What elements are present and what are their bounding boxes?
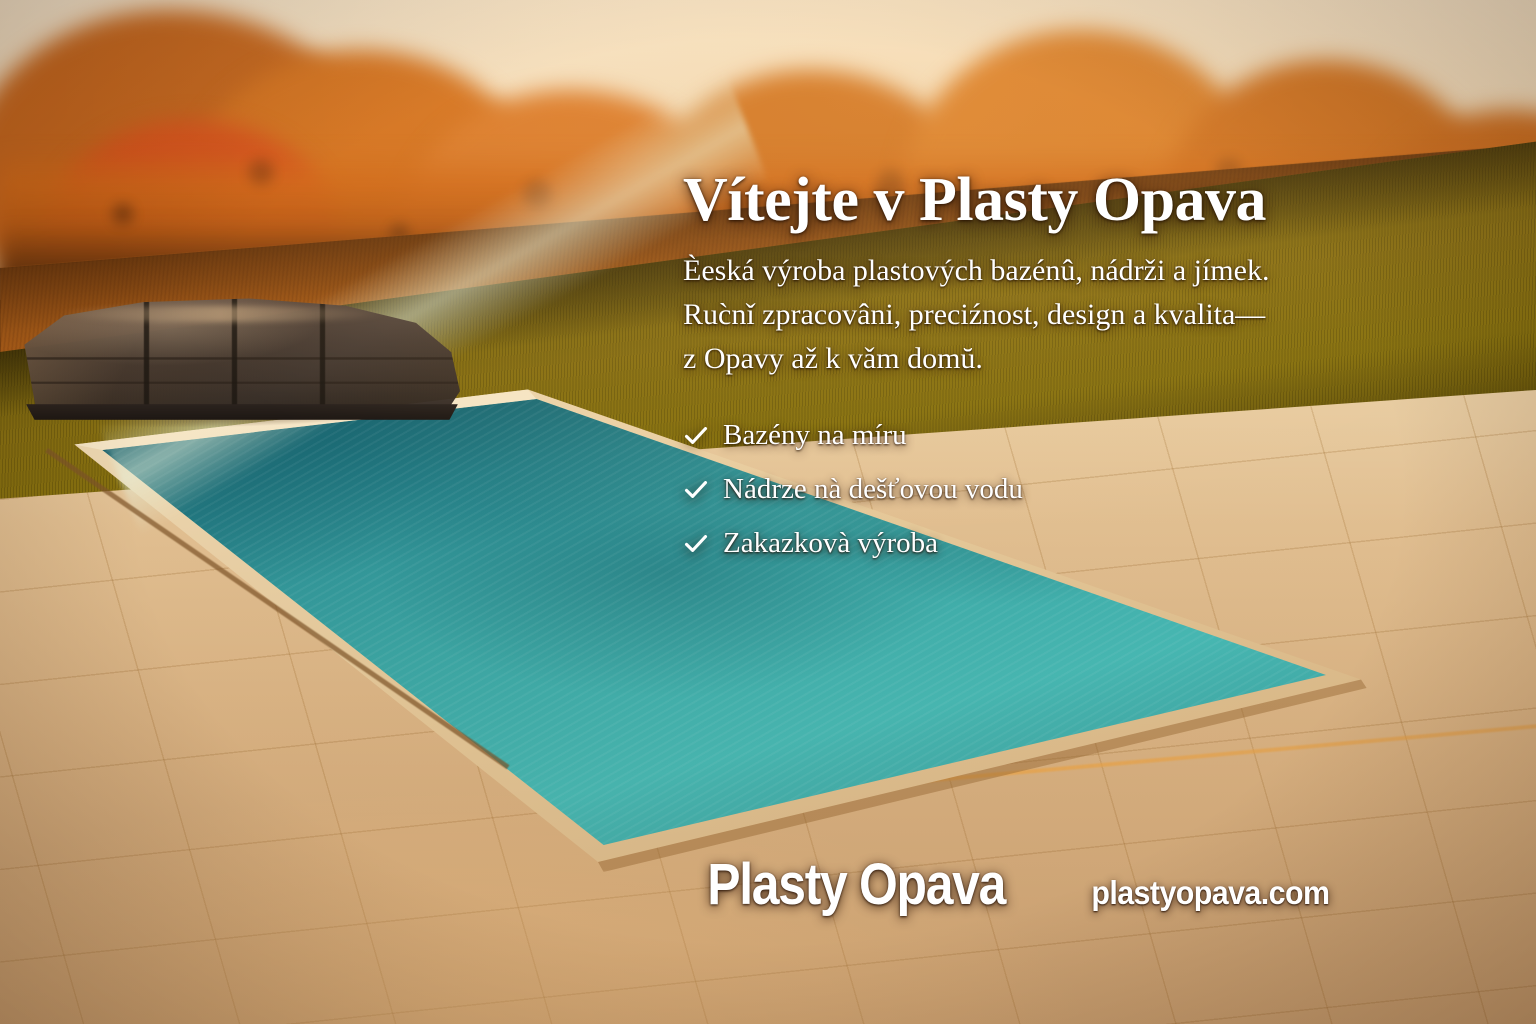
list-item: Bazény na míru — [683, 421, 1483, 450]
feature-label: Nádrze nà dešťovou vodu — [723, 475, 1023, 504]
brand-wordmark: Plasty Opava — [707, 856, 1005, 914]
poster-canvas: Vítejte v Plasty Opava Èeská výroba plas… — [0, 0, 1536, 1024]
subheadline-line-3: z Opavy až k vǎm domŭ. — [683, 337, 1483, 381]
feature-label: Zakazkovà výroba — [723, 529, 938, 558]
subheadline-block: Èeská výroba plastových bazénû, nádrži a… — [683, 249, 1483, 381]
feature-label: Bazény na míru — [723, 421, 907, 450]
check-icon — [683, 423, 709, 449]
list-item: Nádrze nà dešťovou vodu — [683, 475, 1483, 504]
check-icon — [683, 531, 709, 557]
enclosure-base-rail — [26, 404, 458, 420]
page-title: Vítejte v Plasty Opava — [683, 168, 1483, 233]
subheadline-line-2: Ruc̀nǐ zpracovâni, preciźnost, design a … — [683, 293, 1483, 337]
list-item: Zakazkovà výroba — [683, 529, 1483, 558]
check-icon — [683, 477, 709, 503]
marketing-copy-block: Vítejte v Plasty Opava Èeská výroba plas… — [683, 168, 1483, 583]
pool-enclosure-dome — [20, 296, 460, 418]
enclosure-top-highlight — [56, 306, 386, 322]
footer-block: Plasty Opava plastyopava.com — [683, 856, 1340, 914]
subheadline-line-1: Èeská výroba plastových bazénû, nádrži a… — [683, 249, 1483, 293]
feature-list: Bazény na míru Nádrze nà dešťovou vodu Z… — [683, 421, 1483, 558]
website-url[interactable]: plastyopava.com — [1092, 876, 1330, 909]
